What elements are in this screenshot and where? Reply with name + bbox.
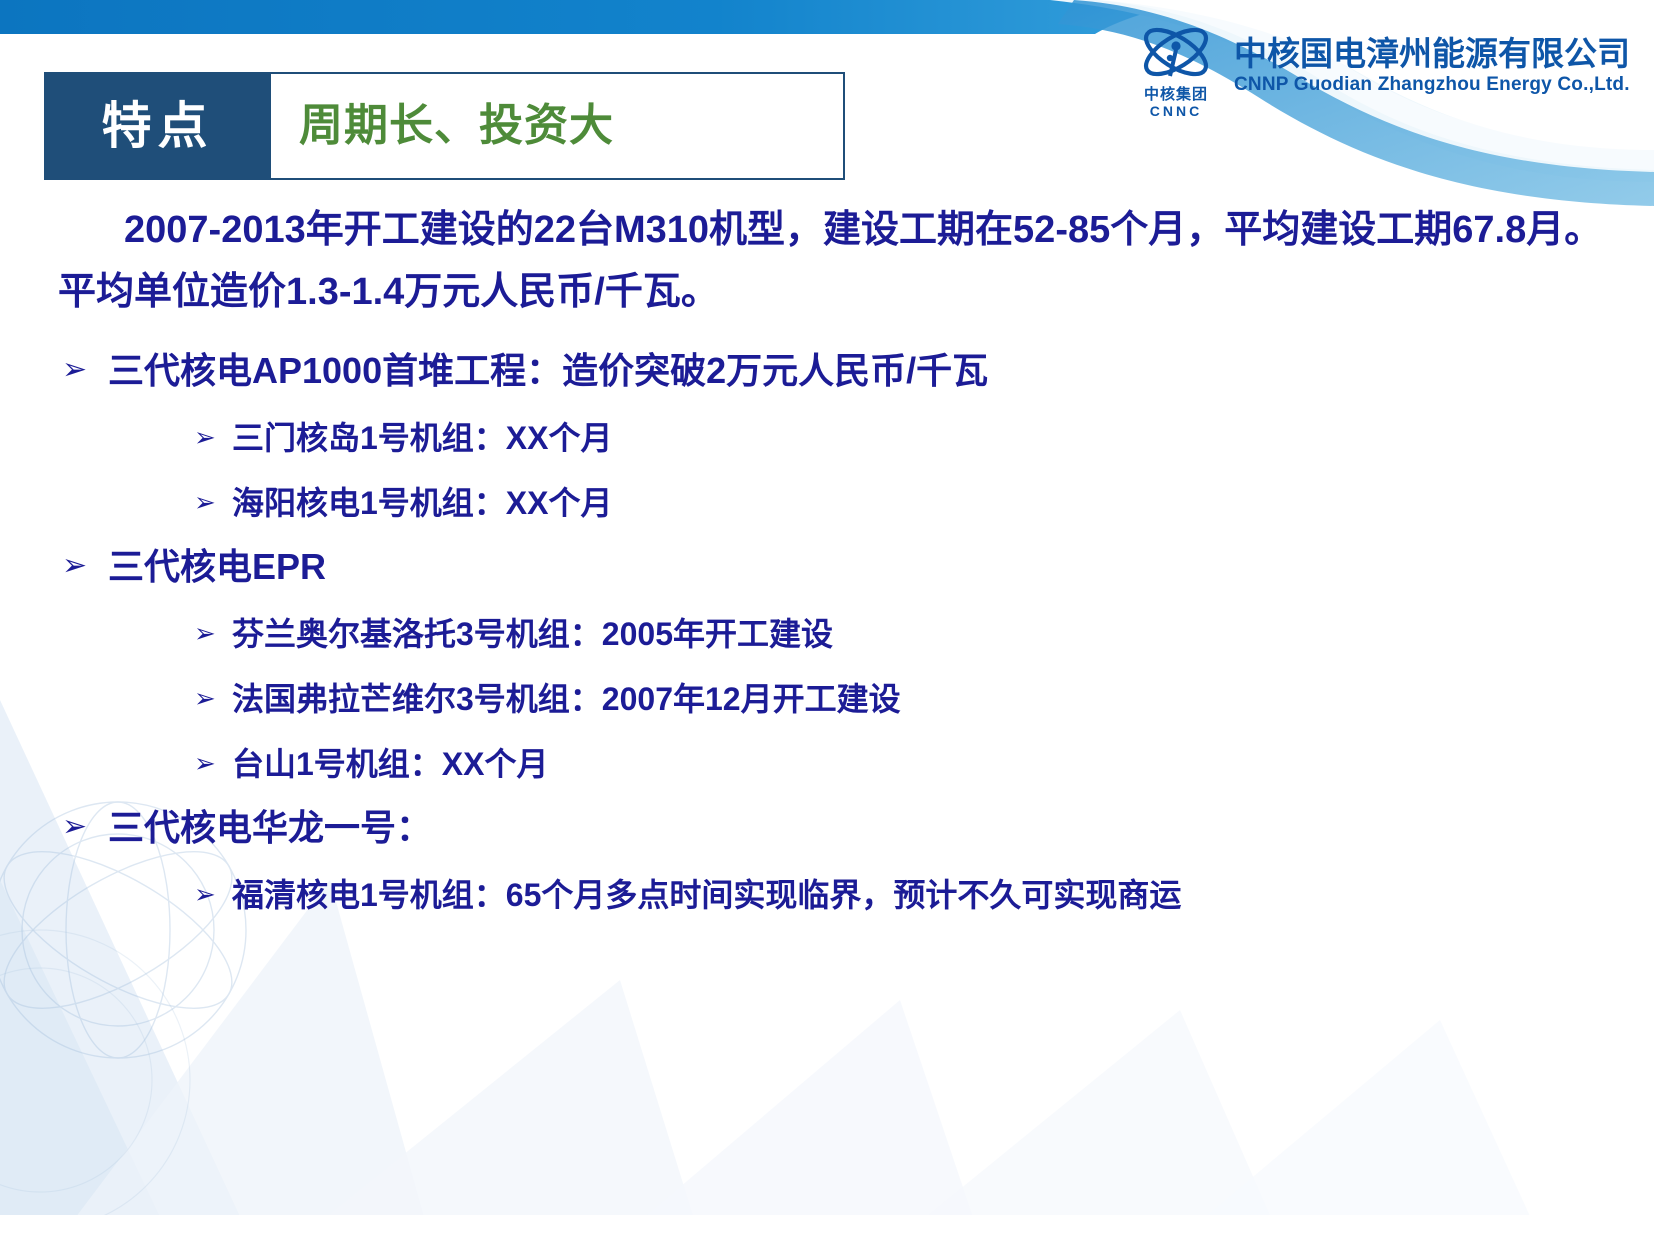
list-item: ➢ 法国弗拉芒维尔3号机组：2007年12月开工建设 (176, 683, 1654, 715)
page-title: 周期长、投资大 (299, 104, 614, 148)
intro-paragraph: 2007-2013年开工建设的22台M310机型，建设工期在52-85个月，平均… (0, 200, 1654, 323)
list-item-label: 法国弗拉芒维尔3号机组：2007年12月开工建设 (232, 681, 901, 717)
logo-title-en: CNNP Guodian Zhangzhou Energy Co.,Ltd. (1234, 74, 1630, 97)
list-item-label: 三代核电AP1000首堆工程：造价突破2万元人民币/千瓦 (108, 350, 988, 391)
chevron-bullet-icon: ➢ (194, 489, 216, 515)
company-logo: 中核集团 CNNC 中核国电漳州能源有限公司 CNNP Guodian Zhan… (1128, 24, 1630, 119)
list-item-label: 芬兰奥尔基洛托3号机组：2005年开工建设 (232, 616, 833, 652)
list-item-label: 台山1号机组：XX个月 (232, 746, 549, 782)
bullet-list-level1: ➢ 三代核电AP1000首堆工程：造价突破2万元人民币/千瓦 ➢ 三门核岛1号机… (0, 353, 1654, 911)
list-item: ➢ 三代核电EPR ➢ 芬兰奥尔基洛托3号机组：2005年开工建设 ➢ 法国弗拉… (0, 549, 1654, 780)
sublist-wrapper: ➢ 芬兰奥尔基洛托3号机组：2005年开工建设 ➢ 法国弗拉芒维尔3号机组：20… (176, 618, 1654, 780)
chevron-bullet-icon: ➢ (194, 750, 216, 776)
chevron-bullet-icon: ➢ (62, 551, 87, 581)
logo-mark-en: CNNC (1150, 104, 1202, 119)
list-item: ➢ 三门核岛1号机组：XX个月 (176, 422, 1654, 454)
sublist-wrapper: ➢ 三门核岛1号机组：XX个月 ➢ 海阳核电1号机组：XX个月 (176, 422, 1654, 519)
list-item-label: 三代核电EPR (108, 546, 326, 587)
list-item-label: 海阳核电1号机组：XX个月 (232, 485, 613, 521)
heading-title-box: 周期长、投资大 (271, 72, 845, 180)
list-item-label: 福清核电1号机组：65个月多点时间实现临界，预计不久可实现商运 (232, 877, 1181, 913)
slide-body: 2007-2013年开工建设的22台M310机型，建设工期在52-85个月，平均… (0, 200, 1654, 911)
logo-mark-cn: 中核集团 (1144, 87, 1208, 104)
atom-icon (1137, 24, 1215, 86)
bullet-list-level2: ➢ 福清核电1号机组：65个月多点时间实现临界，预计不久可实现商运 (176, 879, 1654, 911)
list-item: ➢ 三代核电AP1000首堆工程：造价突破2万元人民币/千瓦 ➢ 三门核岛1号机… (0, 353, 1654, 519)
chevron-bullet-icon: ➢ (194, 881, 216, 907)
slide-heading: 特点 周期长、投资大 (44, 72, 845, 180)
chevron-bullet-icon: ➢ (62, 355, 87, 385)
logo-text-block: 中核国电漳州能源有限公司 CNNP Guodian Zhangzhou Ener… (1234, 24, 1630, 96)
list-item-label: 三代核电华龙一号： (108, 807, 432, 848)
heading-tag-label: 特点 (44, 72, 271, 180)
slide-canvas: 中核集团 CNNC 中核国电漳州能源有限公司 CNNP Guodian Zhan… (0, 0, 1654, 1238)
bullet-list-level2: ➢ 芬兰奥尔基洛托3号机组：2005年开工建设 ➢ 法国弗拉芒维尔3号机组：20… (176, 618, 1654, 780)
list-item: ➢ 台山1号机组：XX个月 (176, 748, 1654, 780)
list-item: ➢ 海阳核电1号机组：XX个月 (176, 487, 1654, 519)
logo-title-cn: 中核国电漳州能源有限公司 (1234, 36, 1630, 72)
bullet-list-level2: ➢ 三门核岛1号机组：XX个月 ➢ 海阳核电1号机组：XX个月 (176, 422, 1654, 519)
chevron-bullet-icon: ➢ (194, 620, 216, 646)
sublist-wrapper: ➢ 福清核电1号机组：65个月多点时间实现临界，预计不久可实现商运 (176, 879, 1654, 911)
list-item: ➢ 芬兰奥尔基洛托3号机组：2005年开工建设 (176, 618, 1654, 650)
list-item-label: 三门核岛1号机组：XX个月 (232, 420, 613, 456)
list-item: ➢ 福清核电1号机组：65个月多点时间实现临界，预计不久可实现商运 (176, 879, 1654, 911)
cnnc-logo-mark: 中核集团 CNNC (1128, 24, 1224, 119)
chevron-bullet-icon: ➢ (62, 812, 87, 842)
chevron-bullet-icon: ➢ (194, 685, 216, 711)
chevron-bullet-icon: ➢ (194, 424, 216, 450)
list-item: ➢ 三代核电华龙一号： ➢ 福清核电1号机组：65个月多点时间实现临界，预计不久… (0, 810, 1654, 911)
